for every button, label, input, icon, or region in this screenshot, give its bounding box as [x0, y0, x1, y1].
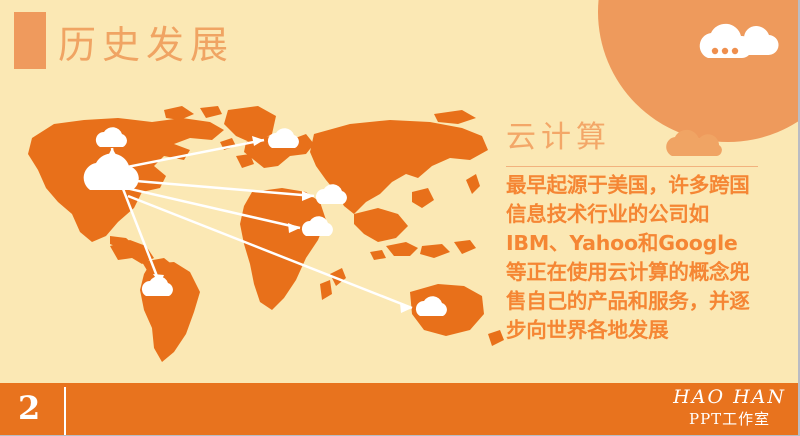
- footer-divider: [64, 387, 66, 435]
- panel-divider: [506, 166, 758, 167]
- panel-heading: 云计算: [506, 118, 782, 158]
- brand-subtitle: PPT工作室: [673, 409, 786, 429]
- info-panel: 云计算 最早起源于美国，许多跨国信息技术行业的公司如IBM、Yahoo和Goog…: [506, 118, 782, 345]
- title-accent-bar: [14, 12, 46, 69]
- footer-bar: 2 HAO HAN PPT工作室: [0, 383, 800, 435]
- panel-heading-row: 云计算: [506, 118, 782, 164]
- corner-cloud-group: [696, 8, 782, 68]
- brand-name: HAO HAN: [673, 385, 786, 409]
- world-map-svg: [14, 96, 504, 366]
- world-map: [14, 96, 504, 366]
- cloud-dots-icon: [700, 24, 753, 58]
- page-number: 2: [18, 389, 40, 427]
- page-title: 历史发展: [58, 14, 234, 69]
- slide-canvas: 历史发展: [0, 0, 800, 436]
- panel-body-text: 最早起源于美国，许多跨国信息技术行业的公司如IBM、Yahoo和Google等正…: [506, 171, 756, 345]
- brand-block: HAO HAN PPT工作室: [673, 385, 786, 429]
- cloud-icon: [662, 122, 734, 158]
